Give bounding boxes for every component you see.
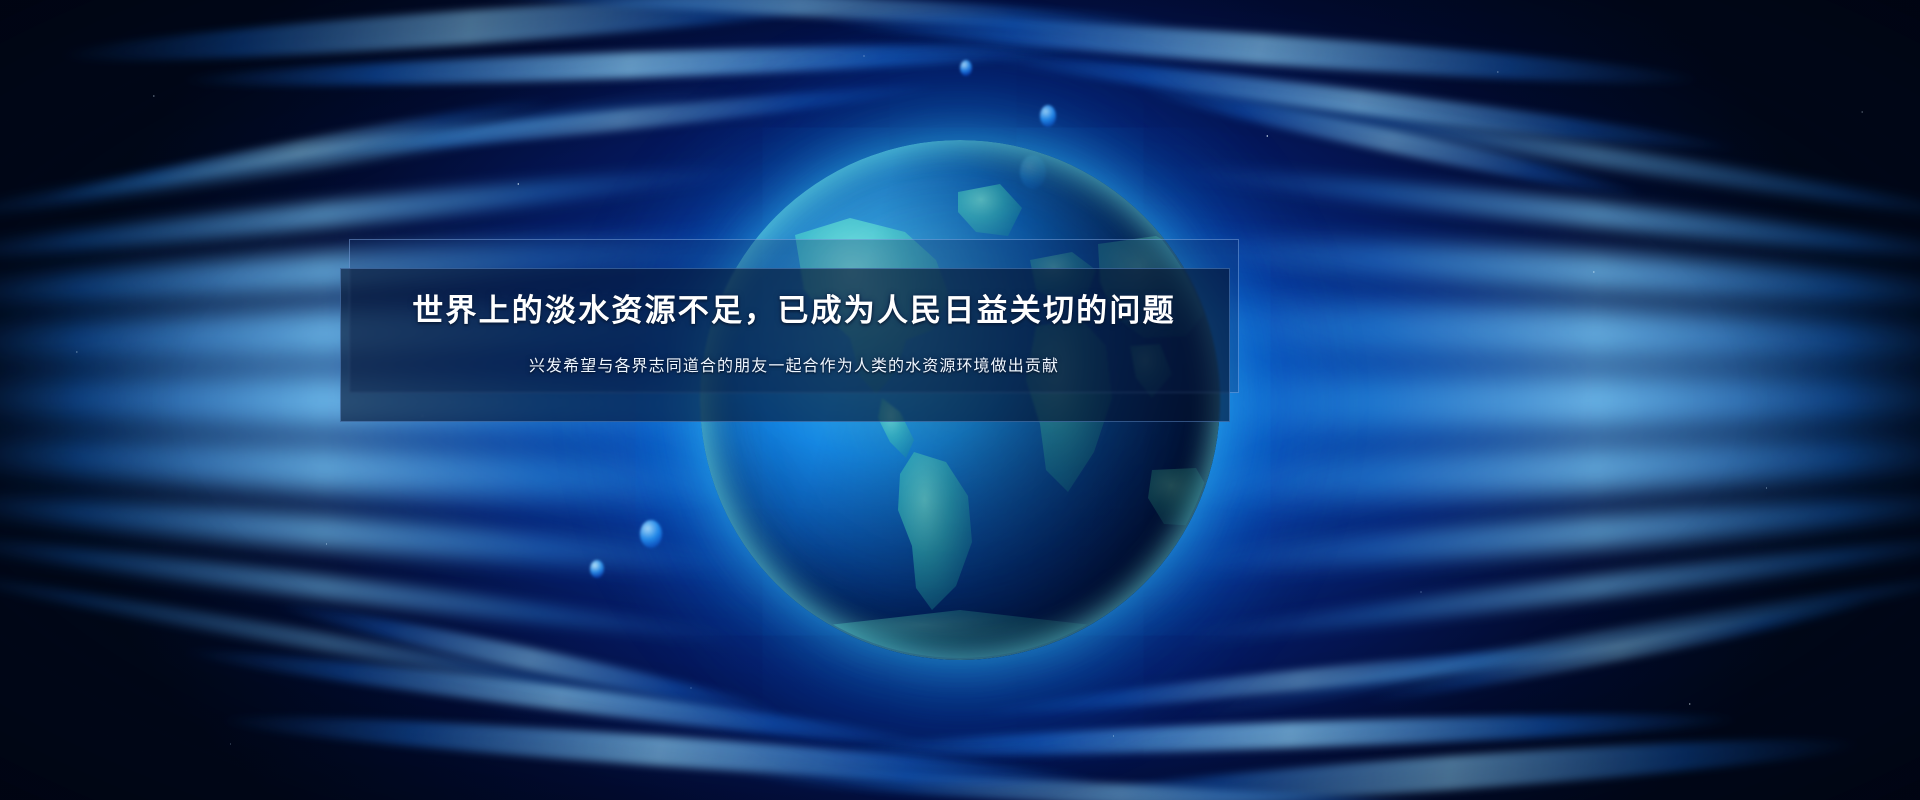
- hero-banner: 世界上的淡水资源不足，已成为人民日益关切的问题 兴发希望与各界志同道合的朋友一起…: [0, 0, 1920, 800]
- water-droplet-icon: [960, 60, 972, 76]
- panel-text-group: 世界上的淡水资源不足，已成为人民日益关切的问题 兴发希望与各界志同道合的朋友一起…: [349, 239, 1239, 422]
- water-splash-icon-right: [1170, 20, 1920, 780]
- hero-headline: 世界上的淡水资源不足，已成为人民日益关切的问题: [412, 285, 1176, 330]
- water-droplet-icon: [1040, 105, 1056, 127]
- hero-subline: 兴发希望与各界志同道合的朋友一起合作为人类的水资源环境做出贡献: [529, 352, 1059, 376]
- water-droplet-icon: [640, 520, 662, 548]
- water-droplet-icon: [590, 560, 604, 578]
- water-splash-icon-bottom: [0, 490, 1920, 800]
- water-droplet-icon: [1020, 155, 1046, 189]
- hero-text-panel: 世界上的淡水资源不足，已成为人民日益关切的问题 兴发希望与各界志同道合的朋友一起…: [349, 239, 1239, 422]
